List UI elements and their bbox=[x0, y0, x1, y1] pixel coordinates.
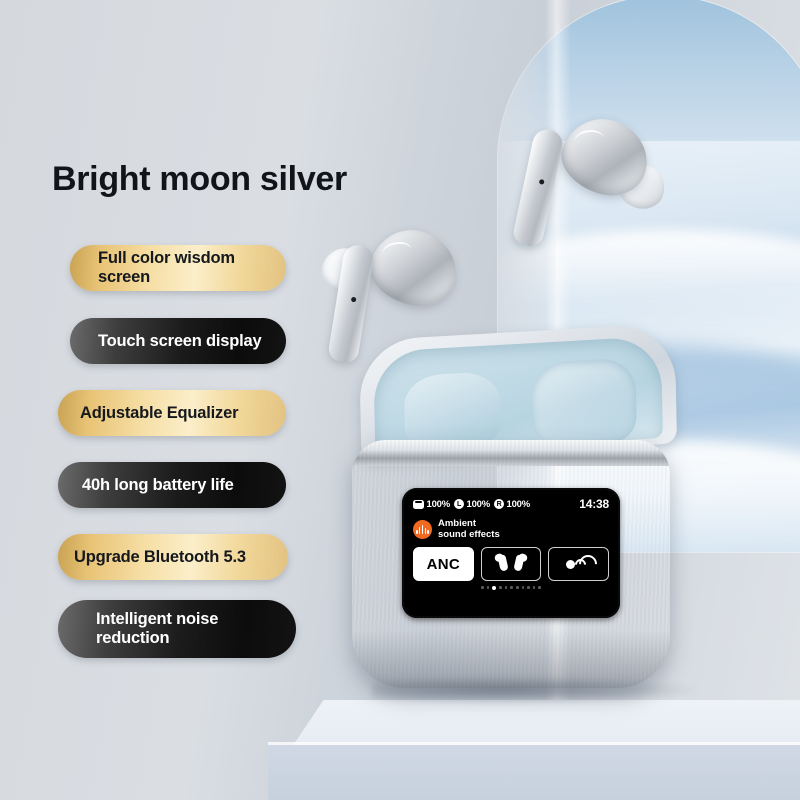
clock: 14:38 bbox=[579, 497, 609, 511]
page-dot bbox=[487, 586, 490, 589]
screen-status-bar: 100% L 100% R 100% 14:38 bbox=[413, 497, 609, 511]
screen-control-buttons: ANC bbox=[413, 547, 609, 581]
lid-interior bbox=[373, 336, 663, 454]
left-battery-value: 100% bbox=[467, 499, 491, 510]
feature-pill-full-color-wisdom-screen: Full color wisdom screen bbox=[70, 245, 286, 291]
page-dot bbox=[510, 586, 513, 589]
feature-pill-adjustable-equalizer: Adjustable Equalizer bbox=[58, 390, 286, 436]
page-indicator-dots[interactable] bbox=[413, 586, 609, 590]
transparency-wave-icon bbox=[566, 556, 592, 572]
page-dot bbox=[505, 586, 508, 589]
anc-label: ANC bbox=[427, 556, 460, 573]
right-battery-indicator: R 100% bbox=[494, 499, 530, 510]
anc-button[interactable]: ANC bbox=[413, 547, 474, 581]
case-bottom-shading bbox=[352, 630, 670, 688]
feature-pill-label: 40h long battery life bbox=[58, 476, 250, 495]
page-dot bbox=[516, 586, 519, 589]
feature-pill-bluetooth: Upgrade Bluetooth 5.3 bbox=[58, 534, 288, 580]
lid-cavity-right bbox=[531, 357, 637, 447]
earbuds-pair-icon bbox=[499, 555, 523, 573]
case-touch-screen[interactable]: 100% L 100% R 100% 14:38 bbox=[402, 488, 620, 618]
right-bud-icon: R bbox=[494, 499, 504, 509]
left-battery-indicator: L 100% bbox=[454, 499, 490, 510]
ambient-label-line1: Ambient bbox=[438, 518, 476, 529]
page-dot bbox=[527, 586, 530, 589]
page-dot bbox=[492, 586, 496, 590]
left-bud-icon: L bbox=[454, 499, 464, 509]
case-body: 100% L 100% R 100% 14:38 bbox=[352, 440, 670, 688]
feature-pill-label: Adjustable Equalizer bbox=[58, 404, 254, 423]
page-title: Bright moon silver bbox=[52, 160, 347, 199]
page-dot bbox=[538, 586, 541, 589]
feature-pill-label: Upgrade Bluetooth 5.3 bbox=[58, 548, 262, 567]
feature-pill-label: Full color wisdom screen bbox=[70, 249, 286, 287]
page-dot bbox=[481, 586, 484, 589]
ambient-mode-label: Ambient sound effects bbox=[438, 518, 500, 540]
earbuds-mode-button[interactable] bbox=[481, 547, 542, 581]
charging-case: 100% L 100% R 100% 14:38 bbox=[352, 440, 670, 698]
right-battery-value: 100% bbox=[507, 499, 531, 510]
sound-waveform-icon bbox=[413, 520, 432, 539]
feature-pill-label: Intelligent noise reduction bbox=[58, 610, 296, 648]
ambient-sound-mode[interactable]: Ambient sound effects bbox=[413, 518, 609, 540]
feature-pill-battery-life: 40h long battery life bbox=[58, 462, 286, 508]
ambient-label-line2: sound effects bbox=[438, 529, 500, 540]
page-dot bbox=[522, 586, 525, 589]
earbud-housing bbox=[363, 221, 464, 314]
feature-pill-noise-reduction: Intelligent noise reduction bbox=[58, 600, 296, 658]
product-poster: Bright moon silver Full color wisdom scr… bbox=[0, 0, 800, 800]
lid-cavity-left bbox=[404, 371, 501, 450]
battery-indicators: 100% L 100% R 100% bbox=[413, 499, 530, 510]
transparency-mode-button[interactable] bbox=[548, 547, 609, 581]
feature-pill-touch-screen-display: Touch screen display bbox=[70, 318, 286, 364]
page-dot bbox=[533, 586, 536, 589]
case-battery-indicator: 100% bbox=[413, 499, 450, 510]
case-battery-value: 100% bbox=[427, 499, 451, 510]
charging-case-icon bbox=[413, 500, 424, 509]
feature-pill-label: Touch screen display bbox=[70, 332, 278, 351]
pedestal-face bbox=[268, 745, 800, 800]
page-dot bbox=[499, 586, 502, 589]
